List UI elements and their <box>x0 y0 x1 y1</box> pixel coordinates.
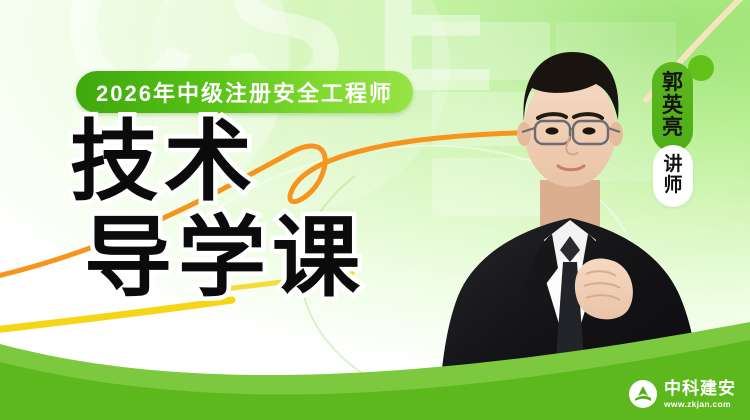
instructor-name-char: 亮 <box>662 117 683 140</box>
logo-website-url: www.zkjan.com <box>664 400 736 409</box>
instructor-name-char: 郭 <box>662 72 683 95</box>
page-title: 技术 导学课 <box>70 120 366 301</box>
brand-logo[interactable]: 中科建安 www.zkjan.com <box>629 380 736 409</box>
instructor-name-badge: 郭 英 亮 <box>652 62 693 152</box>
instructor-name-char: 英 <box>662 95 683 118</box>
logo-text: 中科建安 www.zkjan.com <box>664 380 736 409</box>
course-title-badge: 2026年中级注册安全工程师 <box>76 71 413 113</box>
instructor-role-badge: 讲 师 <box>653 145 693 207</box>
logo-mark-icon <box>629 380 657 408</box>
headline-line-2: 导学课 <box>84 216 366 300</box>
course-title-label: 2026年中级注册安全工程师 <box>96 76 393 108</box>
course-poster: CSE <box>0 0 750 420</box>
instructor-role-char: 讲 <box>663 155 682 176</box>
instructor-role-char: 师 <box>663 176 682 197</box>
headline-line-1: 技术 <box>70 120 366 204</box>
logo-brand-name: 中科建安 <box>664 380 736 397</box>
